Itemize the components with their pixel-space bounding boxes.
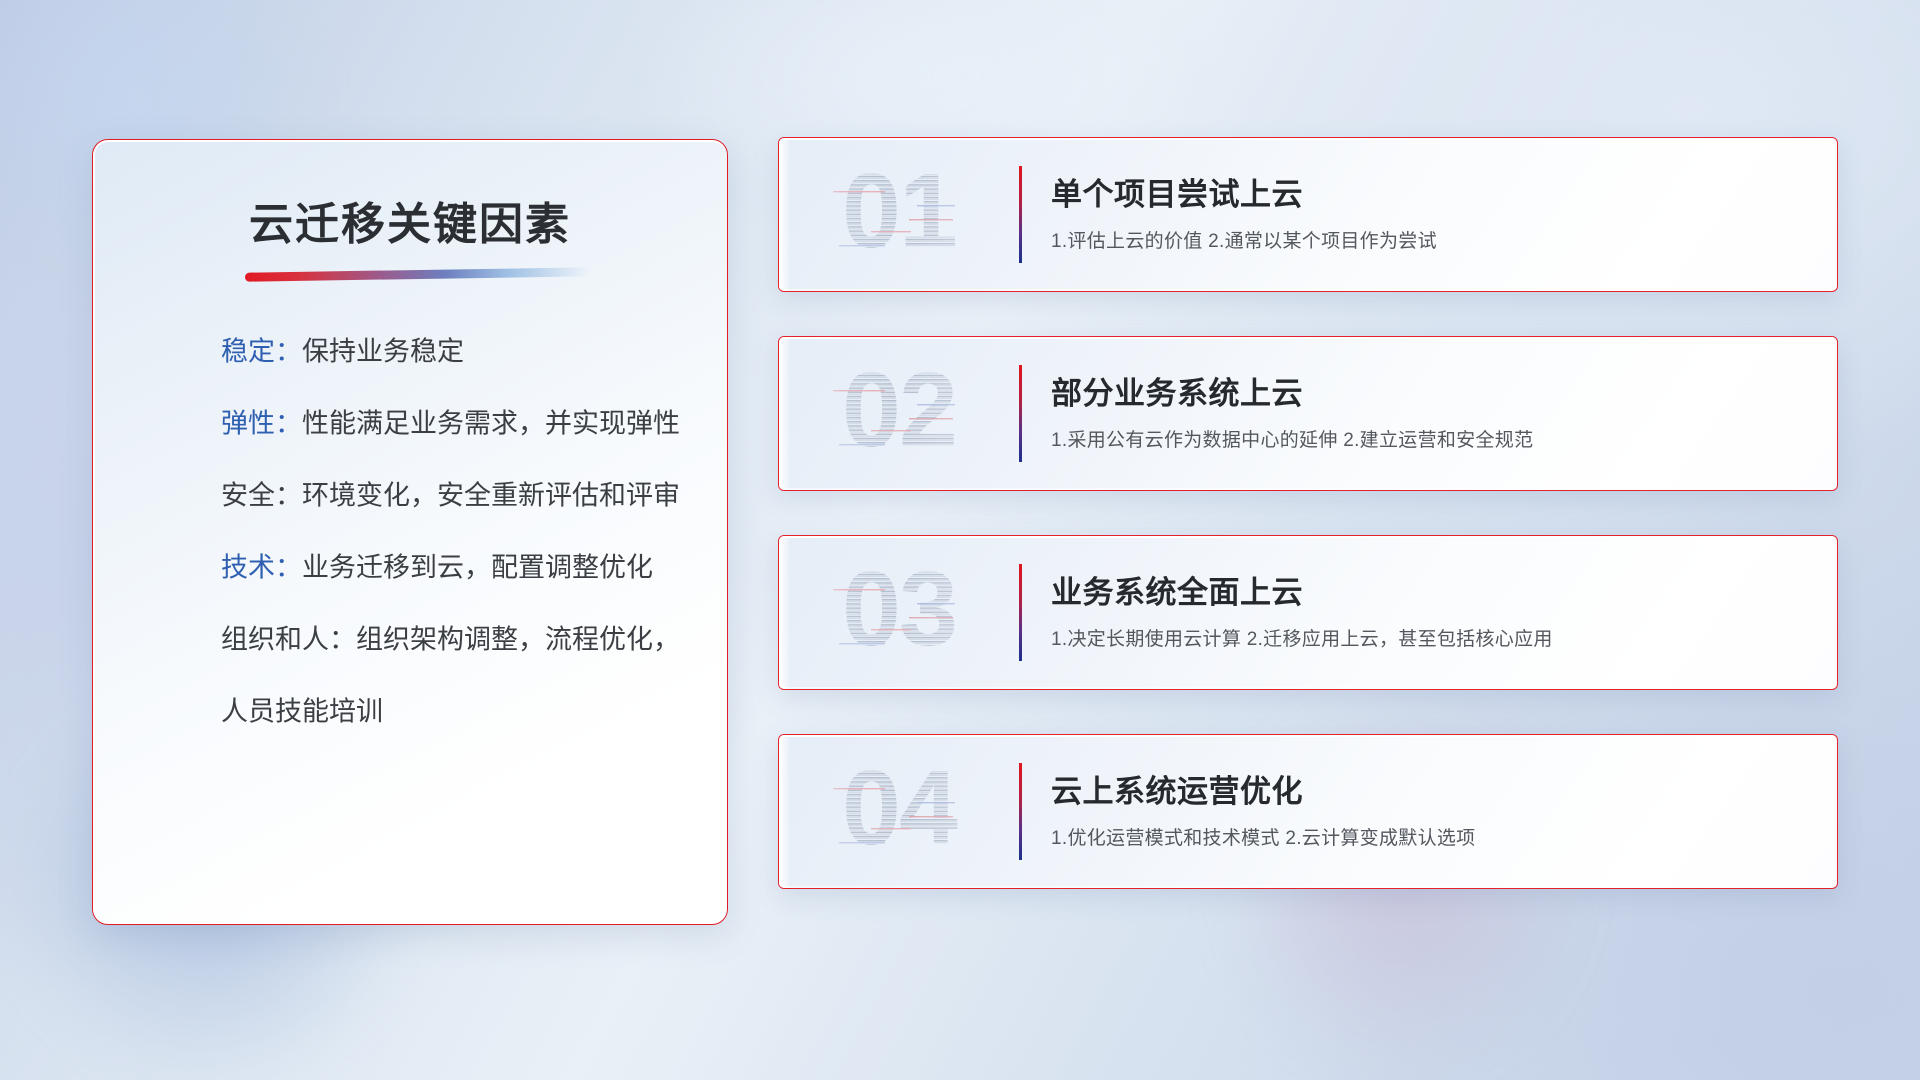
stage-title: 部分业务系统上云 [1051, 375, 1807, 413]
key-factor-value: 组织架构调整，流程优化， [356, 625, 680, 655]
key-factor-label: 安全： [221, 481, 302, 511]
stage-body: 云上系统运营优化1.优化运营模式和技术模式 2.云计算变成默认选项 [1051, 773, 1807, 851]
key-factor-item: 稳定：保持业务稳定 [221, 339, 687, 366]
stage-title: 业务系统全面上云 [1051, 574, 1807, 612]
stage-divider-bar [1019, 365, 1022, 462]
cloud-migration-stages: 01单个项目尝试上云1.评估上云的价值 2.通常以某个项目作为尝试02部分业务系… [778, 137, 1838, 889]
key-factor-value: 业务迁移到云，配置调整优化 [302, 553, 653, 583]
key-factor-item: 安全：环境变化，安全重新评估和评审 [221, 483, 687, 510]
stage-divider-bar [1019, 166, 1022, 263]
stage-title: 单个项目尝试上云 [1051, 176, 1807, 214]
key-factor-label: 组织和人： [221, 625, 356, 655]
stage-title: 云上系统运营优化 [1051, 773, 1807, 811]
key-factor-value: 保持业务稳定 [302, 337, 464, 367]
stage-description: 1.评估上云的价值 2.通常以某个项目作为尝试 [1051, 226, 1807, 253]
svg-text:02: 02 [842, 358, 956, 469]
key-factor-item: 人员技能培训 [221, 699, 687, 726]
stage-number-03: 03 [813, 557, 985, 669]
stage-number-02: 02 [813, 358, 985, 470]
stage-card[interactable]: 03业务系统全面上云1.决定长期使用云计算 2.迁移应用上云，甚至包括核心应用 [778, 535, 1838, 690]
key-factors-list: 稳定：保持业务稳定弹性：性能满足业务需求，并实现弹性安全：环境变化，安全重新评估… [221, 339, 687, 726]
stage-number-01: 01 [813, 159, 985, 271]
stage-card[interactable]: 04云上系统运营优化1.优化运营模式和技术模式 2.云计算变成默认选项 [778, 734, 1838, 889]
stage-number-04: 04 [813, 756, 985, 868]
stage-divider-bar [1019, 763, 1022, 860]
stage-body: 业务系统全面上云1.决定长期使用云计算 2.迁移应用上云，甚至包括核心应用 [1051, 574, 1807, 652]
svg-text:03: 03 [842, 557, 956, 668]
stage-divider-bar [1019, 564, 1022, 661]
key-factor-label: 稳定： [221, 337, 302, 367]
title-underline-accent [245, 267, 590, 281]
stage-description: 1.决定长期使用云计算 2.迁移应用上云，甚至包括核心应用 [1051, 624, 1807, 651]
stage-card[interactable]: 02部分业务系统上云1.采用公有云作为数据中心的延伸 2.建立运营和安全规范 [778, 336, 1838, 491]
svg-text:04: 04 [842, 756, 958, 867]
svg-text:01: 01 [842, 159, 956, 270]
stage-card[interactable]: 01单个项目尝试上云1.评估上云的价值 2.通常以某个项目作为尝试 [778, 137, 1838, 292]
key-factor-item: 技术：业务迁移到云，配置调整优化 [221, 555, 687, 582]
stage-description: 1.优化运营模式和技术模式 2.云计算变成默认选项 [1051, 823, 1807, 850]
key-factors-panel: 云迁移关键因素 稳定：保持业务稳定弹性：性能满足业务需求，并实现弹性安全：环境变… [92, 139, 728, 925]
key-factor-label: 技术： [221, 553, 302, 583]
key-factor-item: 组织和人：组织架构调整，流程优化， [221, 627, 687, 654]
page-title: 云迁移关键因素 [93, 188, 727, 252]
stage-description: 1.采用公有云作为数据中心的延伸 2.建立运营和安全规范 [1051, 425, 1807, 452]
stage-body: 部分业务系统上云1.采用公有云作为数据中心的延伸 2.建立运营和安全规范 [1051, 375, 1807, 453]
key-factor-label: 弹性： [221, 409, 302, 439]
key-factor-value: 人员技能培训 [221, 697, 383, 727]
key-factor-value: 性能满足业务需求，并实现弹性 [302, 409, 680, 439]
key-factor-value: 环境变化，安全重新评估和评审 [302, 481, 680, 511]
stage-body: 单个项目尝试上云1.评估上云的价值 2.通常以某个项目作为尝试 [1051, 176, 1807, 254]
key-factor-item: 弹性：性能满足业务需求，并实现弹性 [221, 411, 687, 438]
